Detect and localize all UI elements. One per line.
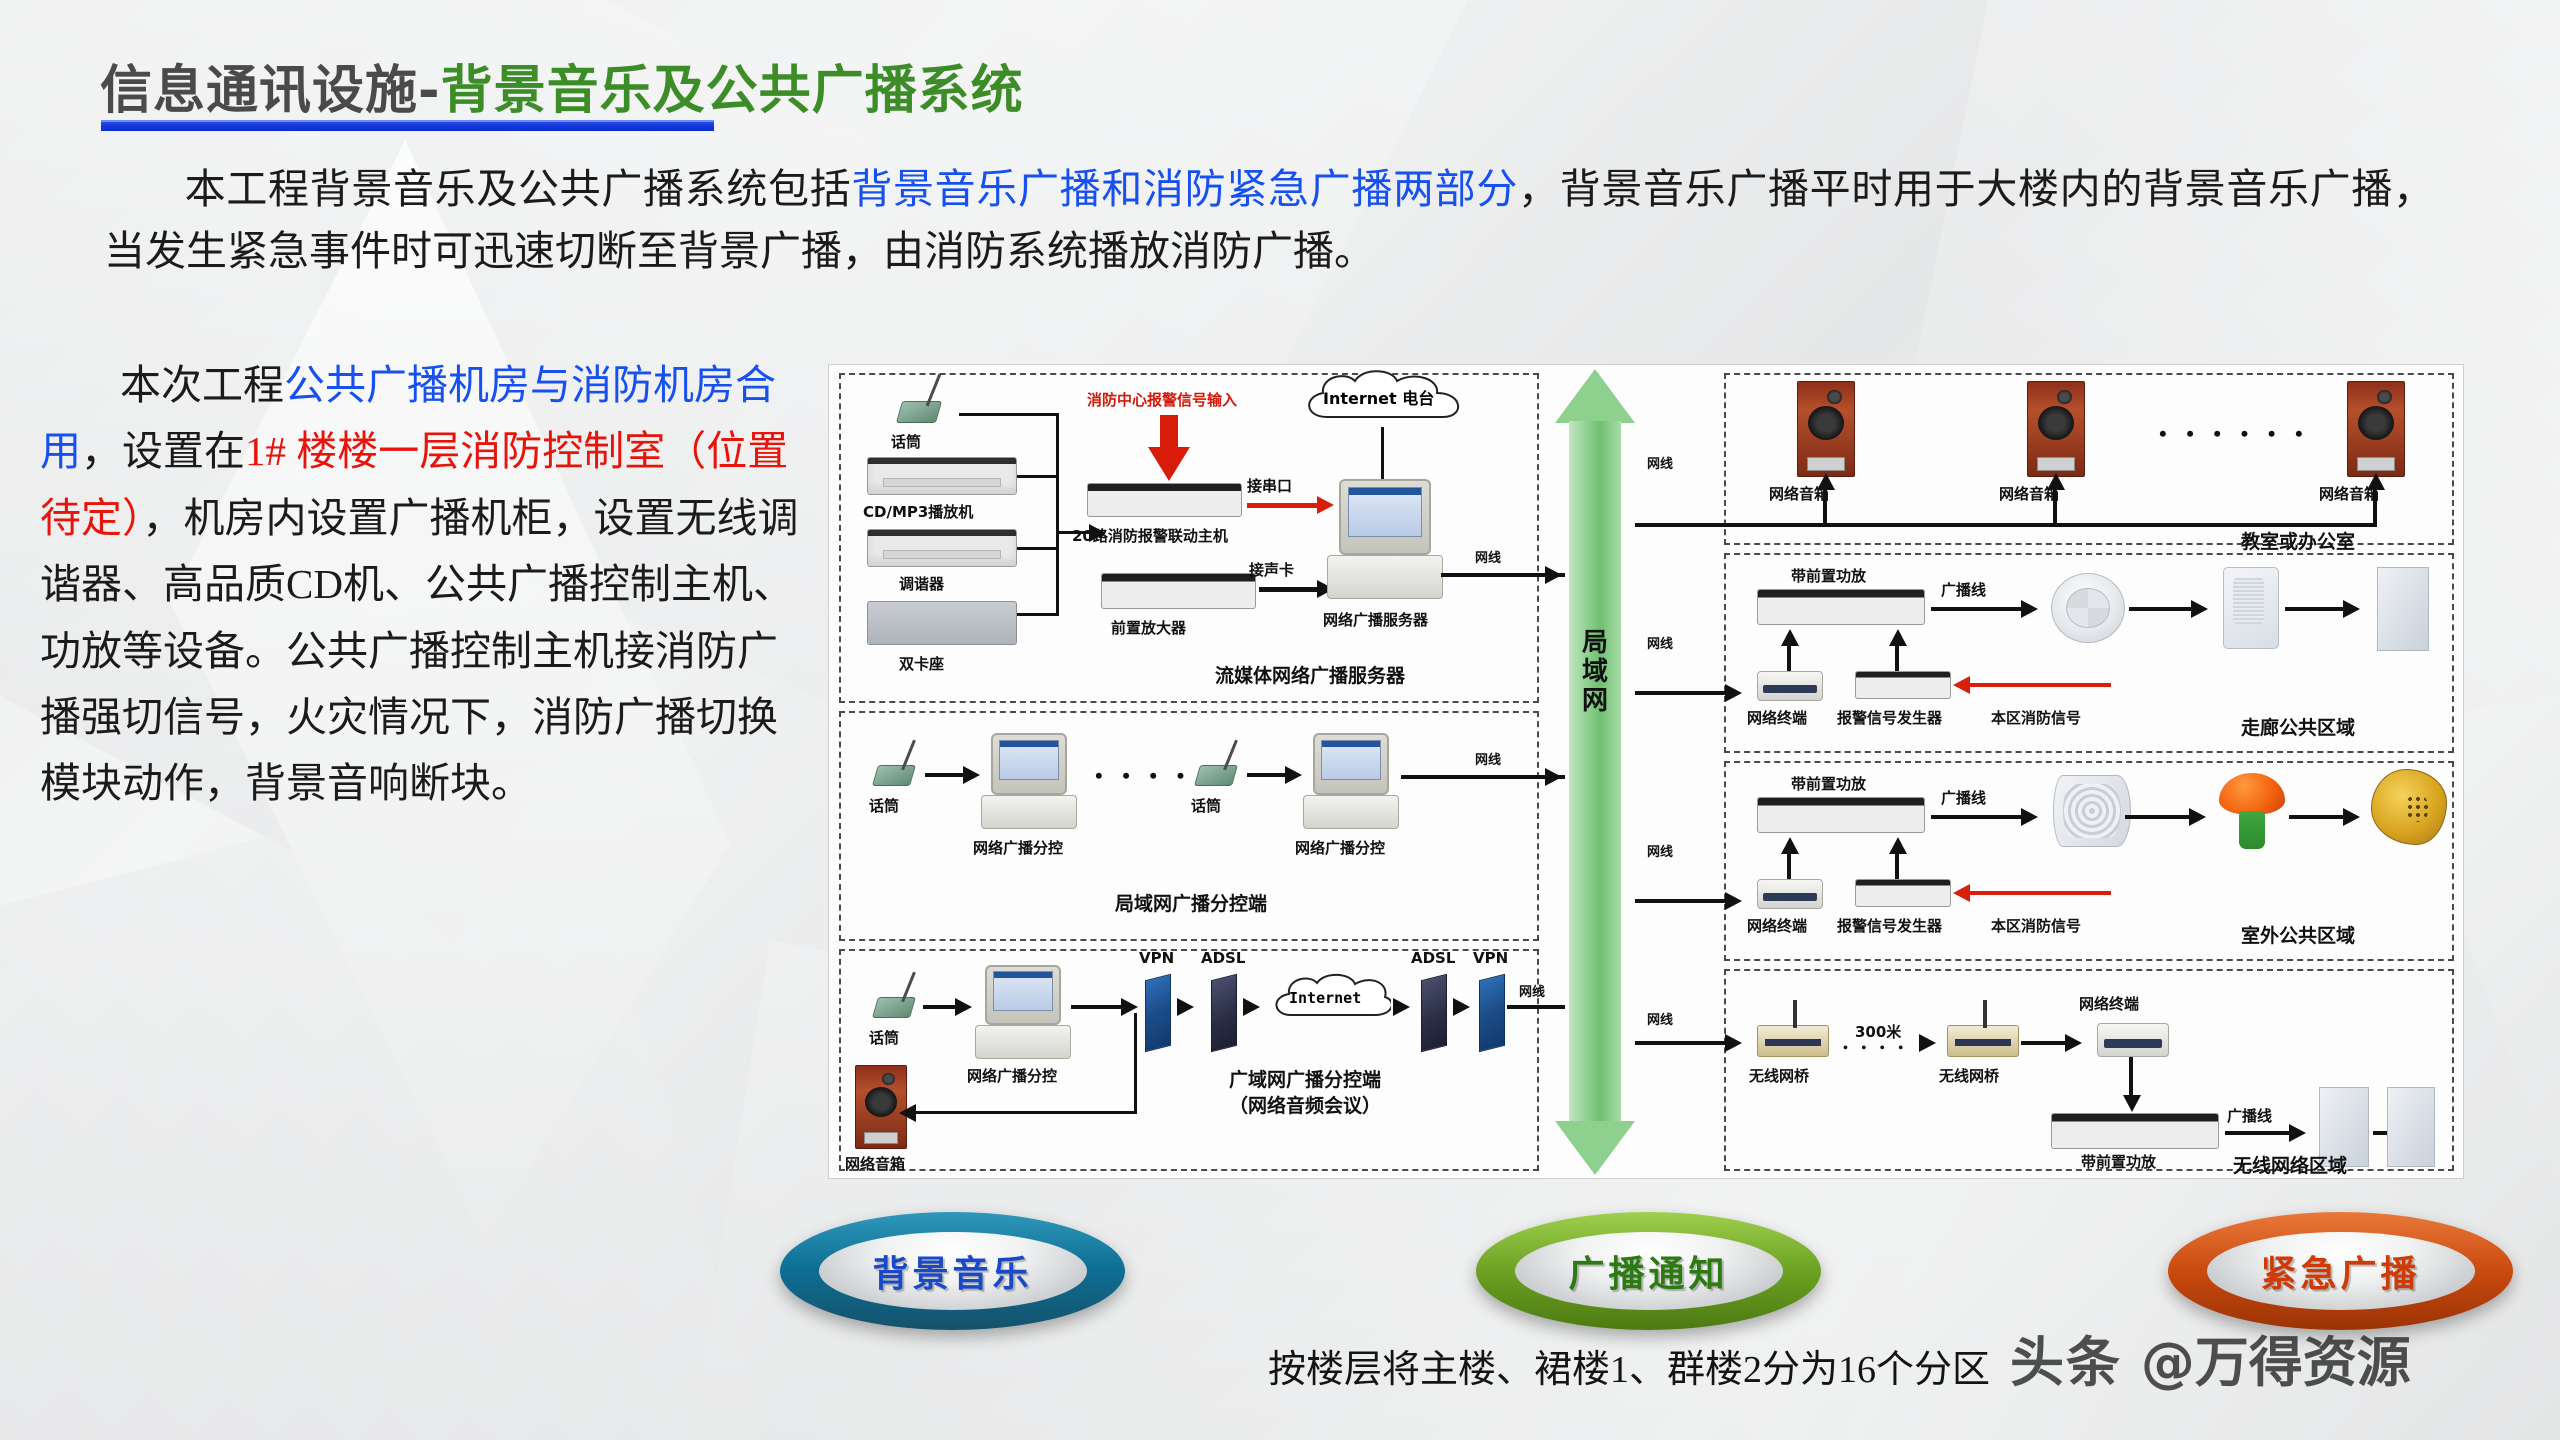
arrow-icon [2021, 600, 2038, 618]
label-wireless-broadcast-line: 广播线 [2227, 1105, 2272, 1126]
background-music-button[interactable]: 背景音乐 [780, 1212, 1125, 1330]
label-corridor-terminal: 网络终端 [1747, 707, 1807, 728]
arrow-icon [899, 1104, 916, 1122]
wire [1259, 587, 1321, 592]
label-microphone-1: 话筒 [891, 431, 921, 452]
label-adsl-1: ADSL [1201, 949, 1245, 967]
label-internet: Internet [1289, 989, 1361, 1007]
wire [2225, 1131, 2295, 1135]
label-wireless-terminal: 网络终端 [2079, 993, 2139, 1014]
ellipsis-icon: • • • • • • [2159, 421, 2310, 447]
lan-substation-monitor-2-icon [1313, 733, 1389, 795]
corridor-preamp-icon [1757, 589, 1925, 625]
wire [1017, 613, 1059, 616]
label-alarm-input: 消防中心报警信号输入 [1087, 389, 1237, 410]
box-speaker-icon [2377, 567, 2429, 651]
arrow-icon [2065, 1034, 2082, 1052]
watermark: 头条 @万得资源 [2010, 1318, 2411, 1397]
cd-mp3-player-icon [867, 457, 1017, 495]
label-lan-substation-2: 网络广播分控 [1295, 837, 1385, 858]
slide-page: 信息通讯设施-背景音乐及公共广播系统 本工程背景音乐及公共广播系统包括背景音乐广… [0, 0, 2560, 1440]
arrow-icon [1393, 998, 1410, 1016]
label-corridor-fire-signal: 本区消防信号 [1991, 707, 2081, 728]
vpn-device-2-icon [1479, 974, 1505, 1052]
alarm-arrow-stem-icon [1160, 415, 1178, 449]
arrow-icon [963, 766, 980, 784]
wire [2373, 487, 2377, 525]
microphone-icon [872, 997, 916, 1018]
lan-backbone-arrow: 局域网 [1555, 369, 1635, 1175]
arrow-icon [1317, 496, 1334, 514]
arrow-icon [2123, 1095, 2141, 1112]
wire [1969, 683, 2111, 687]
label-outdoor-alarm-gen: 报警信号发生器 [1837, 915, 1942, 936]
wire [1969, 891, 2111, 895]
label-netcable-r2: 网线 [1647, 633, 1673, 652]
label-corridor-alarm-gen: 报警信号发生器 [1837, 707, 1942, 728]
wire [1247, 503, 1321, 508]
wire [2125, 815, 2195, 819]
intro-paragraph: 本工程背景音乐及公共广播系统包括背景音乐广播和消防紧急广播两部分，背景音乐广播平… [104, 158, 2434, 283]
horn-speaker-icon [2053, 775, 2131, 847]
label-outdoor-terminal: 网络终端 [1747, 915, 1807, 936]
wire [1931, 815, 2027, 819]
label-outdoor-broadcast-line: 广播线 [1941, 787, 1986, 808]
wire [959, 413, 1059, 416]
wireless-bridge-2-icon [1947, 1025, 2019, 1057]
footnote-text: 按楼层将主楼、裙楼1、群楼2分为16个分区 [1268, 1338, 1990, 1393]
intro-seg2-highlight: 背景音乐广播和消防紧急广播两部分 [851, 166, 1518, 212]
wire [1895, 643, 1899, 671]
page-title: 信息通讯设施-背景音乐及公共广播系统 [100, 48, 1024, 123]
wire [2053, 487, 2057, 525]
wire [1056, 413, 1059, 613]
caption-server-room: 流媒体网络广播服务器 [1215, 661, 1405, 688]
left-seg1: 本次工程 [120, 362, 284, 408]
label-wireless-amp: 带前置功放 [2081, 1151, 2156, 1172]
label-microphone-3: 话筒 [1191, 795, 1221, 816]
network-terminal-wireless-icon [2097, 1023, 2169, 1057]
arrow-icon [1177, 998, 1194, 1016]
label-netcable-r4: 网线 [1647, 1009, 1673, 1028]
wire [1247, 773, 1289, 777]
arrow-icon [2191, 600, 2208, 618]
label-corridor-amp: 带前置功放 [1791, 565, 1866, 586]
wall-speaker-icon [2223, 567, 2279, 649]
label-wireless-bridge-1: 无线网桥 [1749, 1065, 1809, 1086]
wire [915, 1111, 1137, 1114]
label-corridor-broadcast-line: 广播线 [1941, 579, 1986, 600]
wire [1823, 487, 1827, 525]
adsl-modem-2-icon [1421, 974, 1447, 1052]
label-internet-radio: Internet 电台 [1323, 385, 1434, 409]
lan-substation-monitor-icon [991, 733, 1067, 795]
wire [923, 1005, 959, 1009]
network-terminal-outdoor-icon [1757, 879, 1823, 909]
caption-wan-substation-1: 广域网广播分控端 [1229, 1065, 1381, 1092]
wire [2021, 1041, 2071, 1045]
arrow-icon [1243, 998, 1260, 1016]
arrow-icon [1545, 566, 1562, 584]
arrow-icon [1953, 884, 1970, 902]
arrow-icon [1545, 768, 1562, 786]
wire [1931, 607, 2027, 611]
arrow-icon [1285, 766, 1302, 784]
broadcast-server-case-icon [1327, 555, 1443, 599]
lan-substation-case-icon [981, 795, 1077, 829]
internet-cloud-icon: Internet [1269, 971, 1391, 1031]
left-seg3: ，设置在 [81, 428, 245, 474]
title-underline [101, 120, 714, 131]
label-soundcard-link: 接声卡 [1249, 559, 1294, 580]
wire [1017, 475, 1059, 478]
label-cd-mp3-player: CD/MP3播放机 [863, 501, 973, 522]
label-netcable-3: 网线 [1519, 981, 1545, 1000]
caption-corridor: 走廊公共区域 [2241, 713, 2355, 740]
network-speaker-classroom-3-icon [2347, 381, 2405, 477]
wire [1381, 427, 1384, 481]
tuner-icon [867, 529, 1017, 567]
broadcast-notice-button[interactable]: 广播通知 [1476, 1212, 1821, 1330]
label-outdoor-fire-signal: 本区消防信号 [1991, 915, 2081, 936]
microphone-icon [872, 765, 916, 786]
ellipsis-icon: • • • • [1843, 1041, 1908, 1057]
wireless-preamp-icon [2051, 1113, 2219, 1149]
mushroom-speaker-stem-icon [2239, 811, 2265, 849]
label-broadcast-server: 网络广播服务器 [1323, 609, 1428, 630]
wire [2289, 815, 2349, 819]
arrow-icon [2343, 808, 2360, 826]
arrow-icon [1121, 998, 1138, 1016]
arrow-icon [1725, 1034, 1742, 1052]
label-netcable-2: 网线 [1475, 749, 1501, 768]
wire [1635, 691, 1729, 695]
network-terminal-corridor-icon [1757, 671, 1823, 701]
label-tuner: 调谐器 [899, 573, 944, 594]
label-vpn-2: VPN [1473, 949, 1508, 967]
label-microphone-4: 话筒 [869, 1027, 899, 1048]
label-netcable-r1: 网线 [1647, 453, 1673, 472]
wan-substation-case-icon [975, 1025, 1071, 1059]
wire [1787, 851, 1791, 879]
intro-seg1: 本工程背景音乐及公共广播系统包括 [184, 166, 851, 212]
label-network-speaker-wan: 网络音箱 [845, 1153, 905, 1174]
arrow-icon [955, 998, 972, 1016]
arrow-icon [2289, 1124, 2306, 1142]
vpn-device-icon [1145, 974, 1171, 1052]
wireless-bridge-1-icon [1757, 1025, 1829, 1057]
wire [1071, 1005, 1125, 1009]
caption-classroom: 教室或办公室 [2241, 527, 2355, 554]
wire [2285, 607, 2349, 611]
microphone-icon [896, 401, 942, 423]
arrow-icon [1725, 892, 1742, 910]
label-wireless-bridge-2: 无线网桥 [1939, 1065, 1999, 1086]
wire [1507, 1005, 1565, 1009]
wire [1401, 775, 1565, 779]
wire [1635, 1041, 1729, 1045]
wire [2129, 1057, 2133, 1097]
page-title-highlight: 背景音乐及公共广播系统 [441, 61, 1024, 121]
broadcast-notice-button-label: 广播通知 [1568, 1245, 1728, 1297]
label-netcable-r3: 网线 [1647, 841, 1673, 860]
label-dual-cassette: 双卡座 [899, 653, 944, 674]
wire [1017, 547, 1059, 550]
wire [1635, 899, 1729, 903]
arrow-icon [1725, 684, 1742, 702]
wire [1895, 851, 1899, 879]
outdoor-preamp-icon [1757, 797, 1925, 833]
label-wan-substation: 网络广播分控 [967, 1065, 1057, 1086]
arrow-icon [2189, 808, 2206, 826]
arrow-icon [2021, 808, 2038, 826]
label-lan-substation-1: 网络广播分控 [973, 837, 1063, 858]
lan-substation-case-2-icon [1303, 795, 1399, 829]
page-title-prefix: 信息通讯设施- [100, 61, 441, 121]
broadcast-server-monitor-icon [1339, 479, 1431, 555]
alarm-signal-generator-outdoor-icon [1855, 879, 1951, 907]
network-speaker-classroom-2-icon [2027, 381, 2085, 477]
wan-substation-monitor-icon [985, 965, 1061, 1025]
watermark-logo: 头条 [2010, 1331, 2122, 1394]
alarm-arrow-icon [1148, 447, 1190, 481]
dual-cassette-deck-icon [867, 601, 1017, 645]
label-alarm-host: 20路消防报警联动主机 [1072, 525, 1228, 546]
wireless-speaker-2-icon [2387, 1087, 2435, 1167]
network-speaker-classroom-1-icon [1797, 381, 1855, 477]
label-serial-link: 接串口 [1247, 475, 1292, 496]
label-netcable-1: 网线 [1475, 547, 1501, 566]
caption-lan-substation: 局域网广播分控端 [1115, 889, 1267, 916]
wire [2129, 607, 2197, 611]
ceiling-speaker-icon [2051, 573, 2125, 643]
pre-amplifier-icon [1101, 573, 1256, 609]
label-adsl-2: ADSL [1411, 949, 1455, 967]
fire-alarm-host-icon [1087, 483, 1242, 517]
caption-outdoor: 室外公共区域 [2241, 921, 2355, 948]
adsl-modem-icon [1211, 974, 1237, 1052]
label-microphone-2: 话筒 [869, 795, 899, 816]
microphone-icon [1194, 765, 1238, 786]
wire [1787, 643, 1791, 671]
label-outdoor-amp: 带前置功放 [1791, 773, 1866, 794]
left-seg5: ，机房内设置广播机柜，设置无线调谐器、高品质CD机、公共广播控制主机、功放等设备… [40, 495, 799, 807]
wire [1134, 1013, 1137, 1113]
internet-radio-cloud-icon: Internet 电台 [1297, 369, 1487, 433]
emergency-broadcast-button-label: 紧急广播 [2260, 1245, 2420, 1297]
arrow-icon [1953, 676, 1970, 694]
arrow-icon [1453, 998, 1470, 1016]
left-paragraph: 本次工程公共广播机房与消防机房合用，设置在1# 楼楼一层消防控制室（位置待定），… [40, 352, 800, 817]
lan-label: 局域网 [1577, 629, 1613, 716]
caption-wan-substation-2: （网络音频会议） [1229, 1091, 1381, 1118]
alarm-signal-generator-corridor-icon [1855, 671, 1951, 699]
caption-wireless: 无线网络区域 [2233, 1151, 2347, 1178]
background-music-button-label: 背景音乐 [872, 1245, 1032, 1297]
system-architecture-diagram: 局域网 话筒 CD/MP3播放机 调谐器 双卡座 消防中心报警信号输入 20路消… [828, 364, 2464, 1179]
wire [925, 773, 967, 777]
emergency-broadcast-button[interactable]: 紧急广播 [2168, 1212, 2513, 1330]
arrow-icon [1919, 1034, 1936, 1052]
watermark-handle: @万得资源 [2141, 1331, 2411, 1394]
label-pre-amp: 前置放大器 [1111, 617, 1186, 638]
label-vpn-1: VPN [1139, 949, 1174, 967]
arrow-icon [2343, 600, 2360, 618]
label-wireless-distance: 300米 [1855, 1021, 1901, 1042]
